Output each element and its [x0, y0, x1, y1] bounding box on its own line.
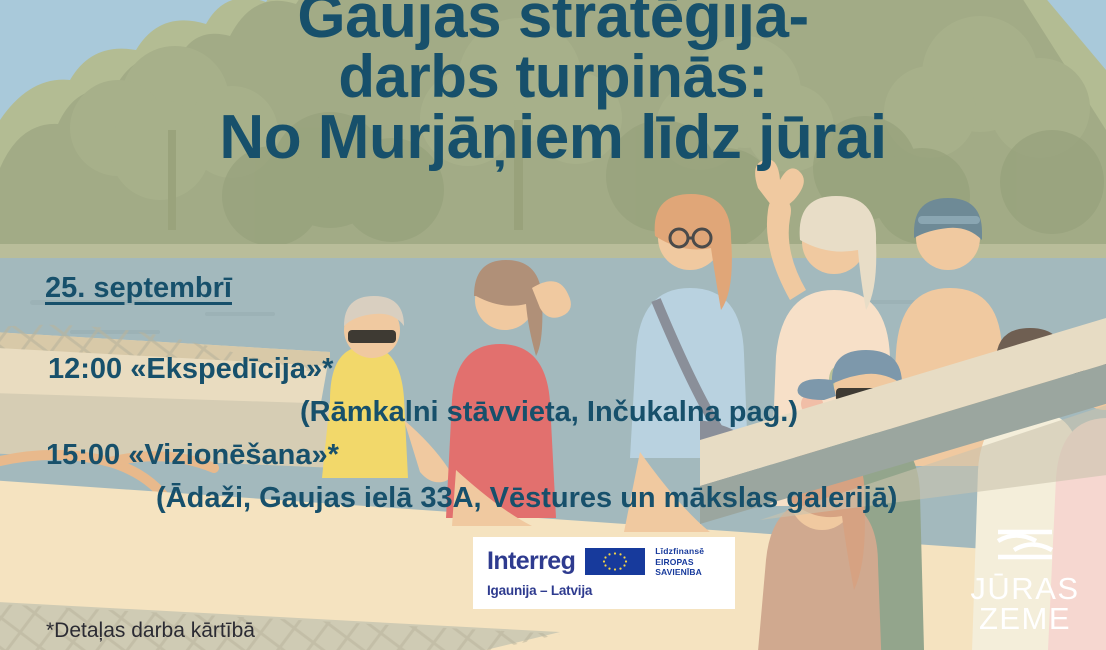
schedule-item-2-location: (Ādaži, Gaujas ielā 33A, Vēstures un māk…: [156, 482, 897, 515]
schedule-item-1-location: (Rāmkalni stāvvieta, Inčukalna pag.): [300, 396, 798, 429]
page-title: Gaujas stratēģija- darbs turpinās: No Mu…: [0, 0, 1106, 168]
wave-lines-icon: [996, 526, 1054, 560]
juras-zeme-logo: JŪRAS ZEME: [960, 526, 1090, 635]
juras-zeme-line-2: ZEME: [960, 604, 1090, 634]
interreg-programme-name: Igaunija – Latvija: [487, 583, 725, 598]
eu-cofund-text: Līdzfinansē EIROPAS SAVIENĪBA: [655, 546, 725, 578]
interreg-logo: Interreg: [473, 537, 735, 609]
poster-image: Gaujas stratēģija- darbs turpinās: No Mu…: [0, 0, 1106, 650]
event-date: 25. septembrī: [45, 272, 232, 305]
footnote-text: *Detaļas darba kārtībā: [46, 619, 255, 643]
title-line-3: No Murjāņiem līdz jūrai: [0, 107, 1106, 168]
eu-cofund-line-2: EIROPAS SAVIENĪBA: [655, 557, 725, 578]
schedule-item-2-time-event: 15:00 «Vizionēšana»*: [46, 439, 339, 472]
eu-cofund-line-1: Līdzfinansē: [655, 546, 725, 557]
text-overlay: Gaujas stratēģija- darbs turpinās: No Mu…: [0, 0, 1106, 650]
title-line-1: Gaujas stratēģija-: [0, 0, 1106, 47]
juras-zeme-line-1: JŪRAS: [960, 574, 1090, 604]
schedule-item-1-time-event: 12:00 «Ekspedīcija»*: [48, 353, 333, 386]
interreg-logo-top-row: Interreg: [487, 546, 725, 578]
eu-stars-icon: [585, 548, 645, 575]
interreg-wordmark: Interreg: [487, 549, 575, 574]
eu-flag-icon: [585, 548, 645, 575]
title-line-2: darbs turpinās:: [0, 47, 1106, 106]
